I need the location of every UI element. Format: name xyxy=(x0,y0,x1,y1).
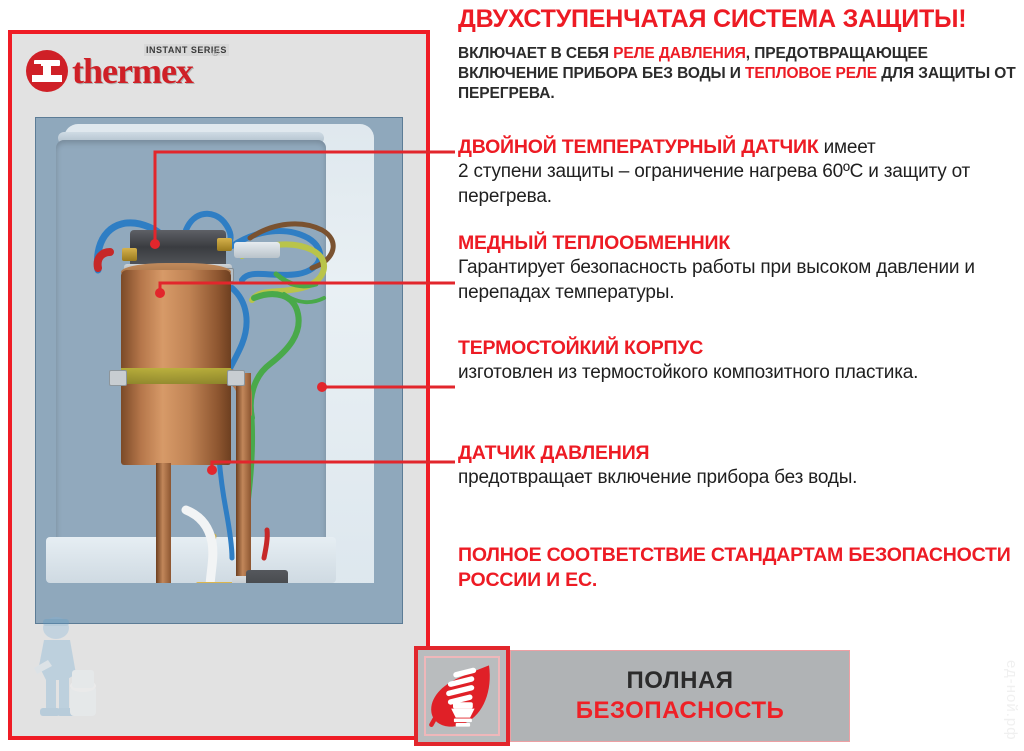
feature-title: ДВОЙНОЙ ТЕМПЕРАТУРНЫЙ ДАТЧИК имеет xyxy=(458,136,1018,159)
closing-statement: ПОЛНОЕ СООТВЕТСТВИЕ СТАНДАРТАМ БЕЗОПАСНО… xyxy=(458,543,1018,594)
badge-text-block: ПОЛНАЯ БЕЗОПАСНОСТЬ xyxy=(510,650,850,742)
feature-heat-resistant-body: ТЕРМОСТОЙКИЙ КОРПУС изготовлен из термос… xyxy=(458,337,1018,386)
intro-highlight-thermal-relay: ТЕПЛОВОЕ РЕЛЕ xyxy=(745,65,877,82)
feature-pressure-sensor: ДАТЧИК ДАВЛЕНИЯ предотвращает включение … xyxy=(458,442,1018,491)
badge-line-1: ПОЛНАЯ xyxy=(626,667,733,695)
feature-body: изготовлен из термостойкого композитного… xyxy=(458,361,1018,385)
feature-body: 2 ступени защиты – ограничение нагрева 6… xyxy=(458,160,1018,209)
eco-bulb-leaf-icon xyxy=(424,656,500,736)
feature-title-tail: имеет xyxy=(819,137,876,158)
feature-copper-heat-exchanger: МЕДНЫЙ ТЕПЛООБМЕННИК Гарантирует безопас… xyxy=(458,232,1018,305)
thermex-logo-mark-icon xyxy=(26,50,68,92)
feature-title-text: МЕДНЫЙ ТЕПЛООБМЕННИК xyxy=(458,232,730,254)
product-photo-panel: INSTANT SERIES thermex ® xyxy=(8,30,430,740)
text-column: ДВУХСТУПЕНЧАТАЯ СИСТЕМА ЗАЩИТЫ! ВКЛЮЧАЕТ… xyxy=(458,0,1024,751)
badge-line-2: БЕЗОПАСНОСТЬ xyxy=(576,697,785,725)
plumber-watermark-icon xyxy=(26,614,104,724)
thermex-logo: INSTANT SERIES thermex ® xyxy=(26,44,276,96)
site-watermark: ед-ной.рф xyxy=(1003,660,1020,741)
feature-dual-temperature-sensor: ДВОЙНОЙ ТЕМПЕРАТУРНЫЙ ДАТЧИК имеет 2 сту… xyxy=(458,136,1018,209)
logo-wordmark: thermex xyxy=(72,50,193,92)
intro-text-1: ВКЛЮЧАЕТ В СЕБЯ xyxy=(458,45,613,62)
feature-title-text: ДАТЧИК ДАВЛЕНИЯ xyxy=(458,442,649,464)
badge-icon-frame xyxy=(414,646,510,746)
feature-title-text: ТЕРМОСТОЙКИЙ КОРПУС xyxy=(458,337,703,359)
intro-paragraph: ВКЛЮЧАЕТ В СЕБЯ РЕЛЕ ДАВЛЕНИЯ, ПРЕДОТВРА… xyxy=(458,44,1021,104)
feature-title: ТЕРМОСТОЙКИЙ КОРПУС xyxy=(458,337,1018,360)
feature-title: МЕДНЫЙ ТЕПЛООБМЕННИК xyxy=(458,232,1018,255)
feature-title: ДАТЧИК ДАВЛЕНИЯ xyxy=(458,442,1018,465)
feature-body: предотвращает включение прибора без воды… xyxy=(458,466,1018,490)
feature-body: Гарантирует безопасность работы при высо… xyxy=(458,256,1018,305)
feature-title-text: ДВОЙНОЙ ТЕМПЕРАТУРНЫЙ ДАТЧИК xyxy=(458,136,819,158)
registered-trademark-icon: ® xyxy=(212,48,219,58)
page-title: ДВУХСТУПЕНЧАТАЯ СИСТЕМА ЗАЩИТЫ! xyxy=(458,6,1018,33)
infographic-root: INSTANT SERIES thermex ® xyxy=(0,0,1024,751)
intro-highlight-pressure-relay: РЕЛЕ ДАВЛЕНИЯ xyxy=(613,45,746,62)
heater-internals-photo: CP1B xyxy=(35,117,403,624)
white-flexible-tube xyxy=(36,118,403,624)
safety-badge: ПОЛНАЯ БЕЗОПАСНОСТЬ xyxy=(414,646,850,746)
